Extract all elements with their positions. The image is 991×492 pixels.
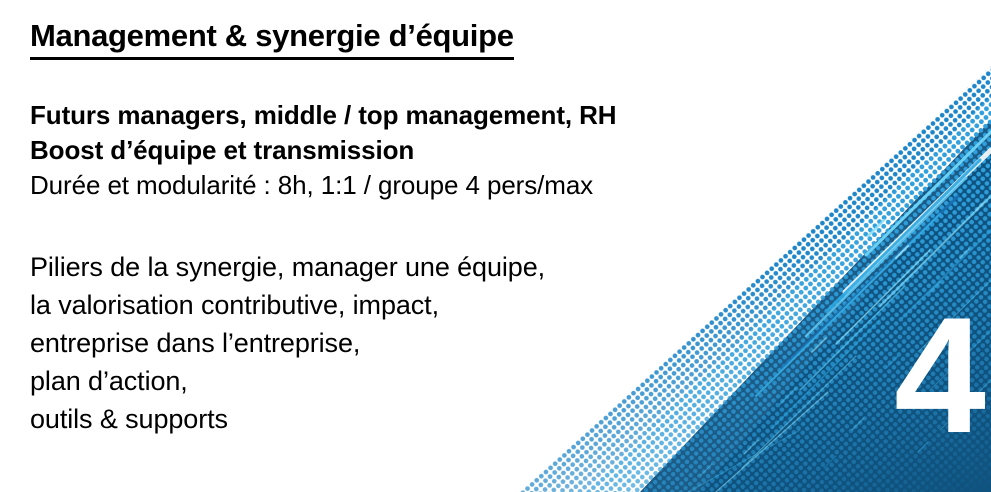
duration-line: Durée et modularité : 8h, 1:1 / groupe 4… — [30, 168, 616, 203]
module-number-badge: 4 — [888, 300, 988, 450]
slide-canvas: Management & synergie d’équipe Futurs ma… — [0, 0, 991, 492]
topic-line: Piliers de la synergie, manager une équi… — [30, 248, 545, 286]
audience-line: Futurs managers, middle / top management… — [30, 98, 616, 133]
page-title: Management & synergie d’équipe — [30, 18, 514, 60]
topic-line: la valorisation contributive, impact, — [30, 286, 545, 324]
topic-line: plan d’action, — [30, 362, 545, 400]
audience-line: Boost d’équipe et transmission — [30, 133, 616, 168]
audience-block: Futurs managers, middle / top management… — [30, 98, 616, 203]
topic-line: entreprise dans l’entreprise, — [30, 324, 545, 362]
topic-line: outils & supports — [30, 400, 545, 438]
topics-block: Piliers de la synergie, manager une équi… — [30, 248, 545, 438]
page-title-text: Management & synergie d’équipe — [30, 18, 514, 60]
